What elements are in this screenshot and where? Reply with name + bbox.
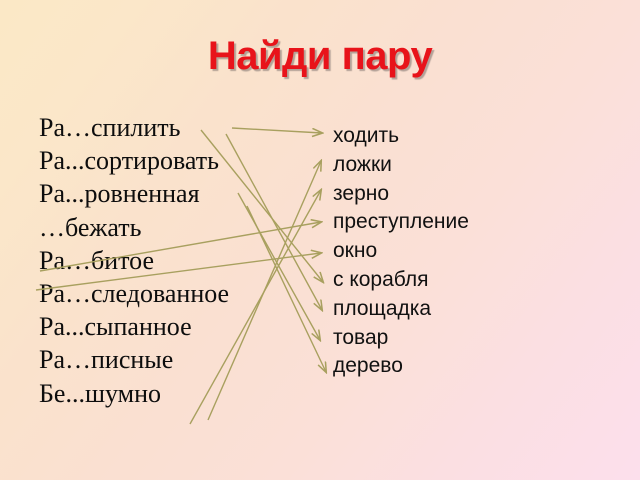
left-word-list: Ра…спилить Ра...сортировать Ра...ровненн… — [39, 111, 309, 410]
list-item[interactable]: Ра…следованное — [39, 277, 309, 310]
page-title: Найди пару — [0, 33, 640, 79]
list-item[interactable]: ходить — [333, 122, 633, 151]
list-item[interactable]: …бежать — [39, 211, 309, 244]
list-item[interactable]: площадка — [333, 295, 633, 324]
list-item[interactable]: ложки — [333, 151, 633, 180]
list-item[interactable]: преступление — [333, 208, 633, 237]
slide-canvas: Найди пару Ра…спилить Ра...сортировать Р… — [0, 0, 640, 480]
list-item[interactable]: Ра…битое — [39, 244, 309, 277]
list-item[interactable]: Ра…спилить — [39, 111, 309, 144]
list-item[interactable]: окно — [333, 237, 633, 266]
list-item[interactable]: зерно — [333, 180, 633, 209]
list-item[interactable]: Ра…писные — [39, 343, 309, 376]
list-item[interactable]: Бе...шумно — [39, 377, 309, 410]
list-item[interactable]: с корабля — [333, 266, 633, 295]
list-item[interactable]: Ра...сортировать — [39, 144, 309, 177]
right-word-list: ходить ложки зерно преступление окно с к… — [333, 122, 633, 381]
list-item[interactable]: дерево — [333, 352, 633, 381]
list-item[interactable]: товар — [333, 324, 633, 353]
list-item[interactable]: Ра...сыпанное — [39, 310, 309, 343]
list-item[interactable]: Ра...ровненная — [39, 177, 309, 210]
